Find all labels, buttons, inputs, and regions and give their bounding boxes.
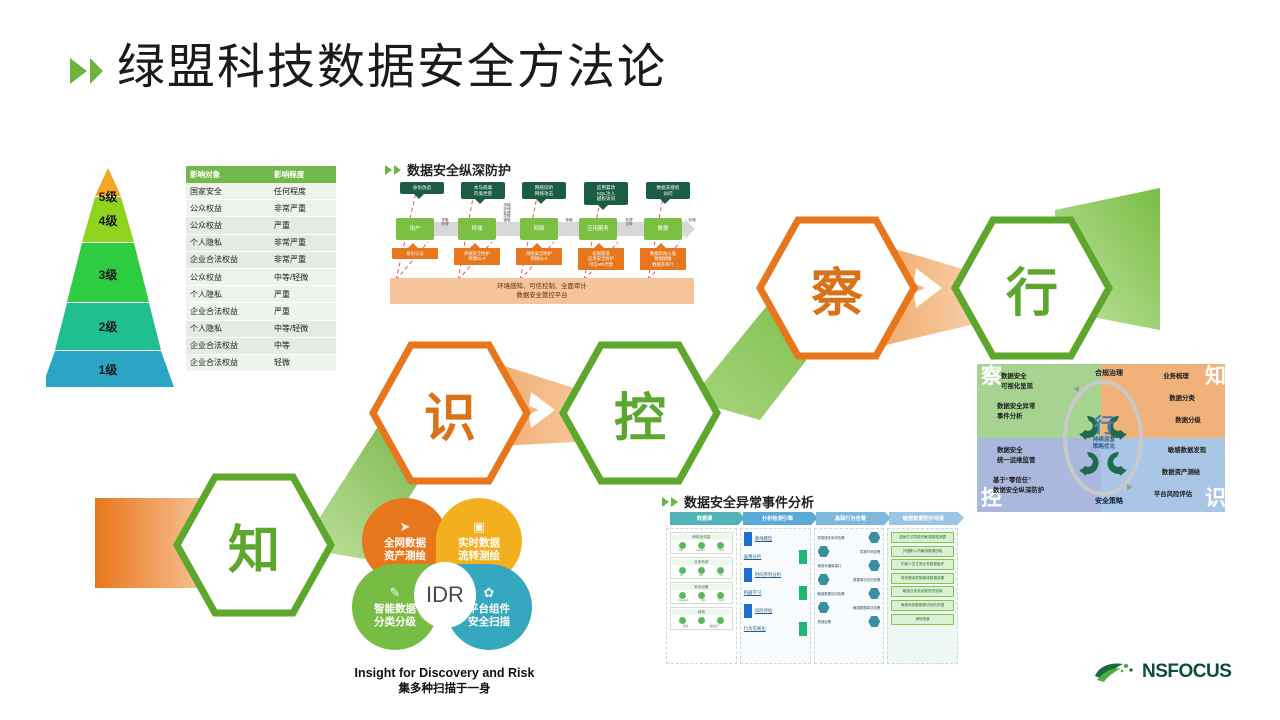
camera-icon: ▣ — [473, 519, 485, 535]
engine-row: 机器学习 — [744, 586, 807, 600]
quad-item-risk: 平台风险评估 — [1137, 490, 1209, 500]
source-dot-labels: FirewallsIDSWAF — [672, 599, 731, 602]
engine-label: 基线模型 — [755, 536, 773, 542]
idr-caption-cn: 集多种扫描于一身 — [322, 680, 567, 696]
hexagon-label-xing[interactable]: 行 — [955, 243, 1109, 333]
quad-item-classify: 数据分类 — [1147, 394, 1217, 404]
methodology-quadrant-diagram: 察 知 控 识 数据安全可视化呈现 数据安全异常事件分析 业务梳理 数据分类 数… — [977, 364, 1225, 512]
engine-row: 画像分析 — [744, 550, 807, 564]
source-dot-labels: 终端数据资产 — [672, 624, 731, 628]
ribbon-label: 分析检测引擎 — [762, 515, 793, 522]
source-card: 网络全流量 httpSessionFiles — [670, 532, 733, 554]
quad-item-grade: 数据分级 — [1153, 416, 1223, 426]
hexagon-label-kong[interactable]: 控 — [563, 368, 717, 458]
bullet-arrow-icon — [662, 497, 678, 507]
ribbon-engine: 分析检测引擎 — [743, 512, 812, 525]
slide-canvas: 绿盟科技数据安全方法论 5级 4级 3级 2级 1级 影响对象 影响程度 国家安… — [0, 0, 1280, 720]
ribbon-label: 数据源 — [697, 515, 713, 522]
quad-item-assetmap: 数据资产测绘 — [1145, 468, 1217, 478]
idr-core-label: IDR — [414, 562, 476, 628]
alert-label: 数据单次访问告警 — [840, 577, 880, 582]
source-dot-labels: httpSessionFiles — [672, 549, 731, 552]
ribbon-label: 敏感数据防护场景 — [903, 515, 945, 522]
paper-plane-icon: ➤ — [400, 519, 411, 535]
source-card: 安全设备 FirewallsIDSWAF — [670, 582, 733, 604]
scenario-item: 盗刷方式导致的敏感数据泄露 — [891, 532, 954, 543]
alert-label: 异常时间告警 — [840, 549, 880, 554]
hex-marker-icon — [868, 616, 880, 627]
alert-row: 异常时间告警 — [818, 546, 881, 557]
alert-row: 异常操作序列告警 — [818, 532, 881, 543]
ribbon-alerts: 基础行为告警 — [816, 512, 885, 525]
ring-label-governance: 合规治理 — [1083, 368, 1135, 378]
alert-row: 使用非通用端口 — [818, 560, 881, 571]
ring-label-policy: 安全策略 — [1083, 496, 1135, 506]
alert-label: 其他告警 — [818, 619, 858, 624]
engine-label: 画像分析 — [744, 554, 762, 560]
anomaly-heading: 数据安全异常事件分析 — [662, 492, 814, 511]
anomaly-columns: 网络全流量 httpSessionFiles 业务系统 4ADPIOA 安全设备… — [666, 528, 958, 664]
source-card: 网络 终端数据资产 — [670, 607, 733, 630]
alert-label: 使用非通用端口 — [818, 563, 858, 568]
engine-row: 风险评估 — [744, 604, 807, 618]
hex-marker-icon — [868, 560, 880, 571]
pencil-icon: ✎ — [390, 585, 401, 601]
nsfocus-logo: NSFOCUS — [1093, 660, 1231, 684]
nsfocus-logo-text: NSFOCUS — [1142, 661, 1231, 683]
engine-label: 机器学习 — [744, 590, 762, 596]
anomaly-col-sources: 网络全流量 httpSessionFiles 业务系统 4ADPIOA 安全设备… — [666, 528, 737, 664]
alert-row: 其他告警 — [818, 616, 881, 627]
anomaly-col-engines: 基线模型 画像分析 时间序列分析 机器学习 风险评估 行为可视化 — [740, 528, 811, 664]
ribbon-scenarios: 敏感数据防护场景 — [889, 512, 958, 525]
source-card: 业务系统 4ADPIOA — [670, 557, 733, 579]
source-dots — [672, 615, 731, 624]
hexagon-label-zhi[interactable]: 知 — [177, 500, 331, 590]
scenario-item: 敏感业务系统被恶意电商 — [891, 586, 954, 597]
engine-label: 行为可视化 — [744, 626, 766, 632]
engine-row: 行为可视化 — [744, 622, 807, 636]
anomaly-col-scenarios: 盗刷方式导致的敏感数据泄露 外围职人员敏感数据窃取 内部人员正常业务数据破坏 账… — [887, 528, 958, 664]
source-dots — [672, 540, 731, 549]
alert-label: 敏感数据单次告警 — [840, 605, 880, 610]
alert-label: 敏感数据访问告警 — [818, 591, 858, 596]
idr-caption: Insight for Discovery and Risk 集多种扫描于一身 — [322, 666, 567, 696]
anomaly-heading-text: 数据安全异常事件分析 — [684, 492, 814, 511]
idr-petal-label: 实时数据流转测绘 — [458, 537, 500, 563]
hexagon-label-cha[interactable]: 察 — [760, 243, 914, 333]
hexagon-label-shi[interactable]: 识 — [373, 368, 527, 458]
idr-petal-label: 全网数据资产测绘 — [384, 537, 426, 563]
quadrant-big-cha: 察 — [981, 366, 1002, 387]
scenario-item: 内部人员正常业务数据破坏 — [891, 559, 954, 570]
hex-marker-icon — [818, 574, 830, 585]
engine-row: 基线模型 — [744, 532, 807, 546]
anomaly-col-alerts: 异常操作序列告警 异常时间告警 使用非通用端口 数据单次访问告警 敏感数据访问告… — [814, 528, 885, 664]
hex-marker-icon — [868, 588, 880, 599]
quad-item-biz: 业务梳理 — [1141, 372, 1211, 382]
ribbon-label: 基础行为告警 — [835, 515, 866, 522]
engine-label: 风险评估 — [755, 608, 773, 614]
ring-center: 行 持续运营策略优化 — [1081, 416, 1127, 452]
idr-flower-diagram: ➤ 全网数据资产测绘 ▣ 实时数据流转测绘 ✎ 智能数据分类分级 ✿ 平台组件安… — [352, 498, 532, 678]
hex-marker-icon — [868, 532, 880, 543]
hex-marker-icon — [818, 602, 830, 613]
idr-petal-label: 智能数据分类分级 — [374, 603, 416, 629]
alert-row: 敏感数据访问告警 — [818, 588, 881, 599]
ring-center-sub: 持续运营策略优化 — [1081, 437, 1127, 452]
anomaly-ribbon: 数据源 分析检测引擎 基础行为告警 敏感数据防护场景 — [670, 512, 958, 525]
methodology-hexagon-flow — [0, 0, 1280, 720]
scenario-item: 其他场景 — [891, 614, 954, 625]
hex-marker-icon — [818, 546, 830, 557]
gear-icon: ✿ — [484, 585, 495, 601]
nsfocus-mark-icon — [1093, 660, 1137, 684]
alert-label: 异常操作序列告警 — [818, 535, 858, 540]
ribbon-data-source: 数据源 — [670, 512, 739, 525]
source-dot-labels: 4ADPIOA — [672, 574, 731, 577]
engine-label: 时间序列分析 — [755, 572, 781, 578]
source-dots — [672, 565, 731, 574]
idr-petal-label: 平台组件安全扫描 — [468, 603, 510, 629]
alert-row: 数据单次访问告警 — [818, 574, 881, 585]
scenario-item: 外围职人员敏感数据窃取 — [891, 546, 954, 557]
engine-row: 时间序列分析 — [744, 568, 807, 582]
source-dots — [672, 590, 731, 599]
quad-item-sensitive: 敏感数据发现 — [1151, 446, 1223, 456]
idr-caption-en: Insight for Discovery and Risk — [322, 666, 567, 680]
anomaly-analysis-diagram: 数据源 分析检测引擎 基础行为告警 敏感数据防护场景 网络全流量 httpSes… — [662, 512, 960, 667]
scenario-item: 账号冒用导致敏感数据泄露 — [891, 573, 954, 584]
ring-center-char: 行 — [1081, 416, 1127, 436]
alert-row: 敏感数据单次告警 — [818, 602, 881, 613]
scenario-item: 敏感系统数据被访问的范围 — [891, 600, 954, 611]
